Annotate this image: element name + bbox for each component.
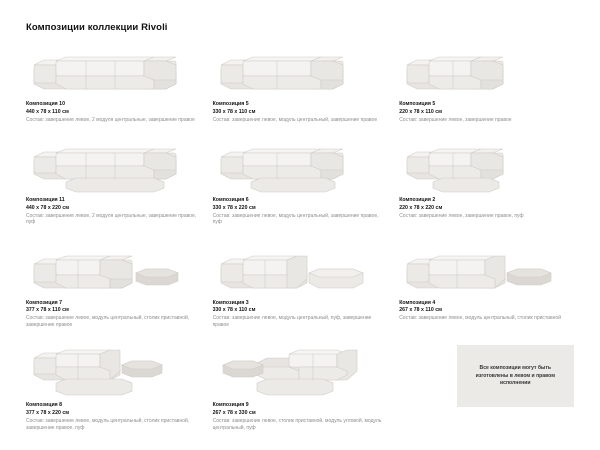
- composition-name: Композиция 2: [399, 197, 574, 203]
- grid-row: Композиция 10 440 х 78 х 110 см Состав: …: [26, 44, 574, 123]
- composition-desc: Состав: завершение левое, завершение пра…: [399, 213, 574, 220]
- composition-name: Композиция 5: [399, 101, 574, 107]
- composition-illustration-table2: [399, 243, 574, 299]
- grid-row: Композиция 7 377 х 78 х 110 см Состав: з…: [26, 243, 574, 329]
- composition-illustration-long4: [26, 44, 201, 100]
- composition-desc: Состав: завершение левое, столик пристав…: [213, 418, 388, 431]
- composition-name: Композиция 10: [26, 101, 201, 107]
- composition-illustration-long4puf: [26, 140, 201, 196]
- composition-illustration-straight3: [213, 44, 388, 100]
- composition-name: Композиция 6: [213, 197, 388, 203]
- composition-desc: Состав: завершение левое, модуль централ…: [213, 315, 388, 328]
- composition-illustration-table3: [26, 243, 201, 299]
- composition-card[interactable]: Композиция 6 330 х 78 х 220 см Состав: з…: [213, 140, 388, 226]
- composition-card[interactable]: Композиция 8 377 х 78 х 220 см Состав: з…: [26, 345, 201, 431]
- composition-name: Композиция 8: [26, 402, 201, 408]
- composition-card[interactable]: Композиция 9 267 х 78 х 330 см Состав: з…: [213, 345, 388, 431]
- composition-name: Композиция 4: [399, 300, 574, 306]
- composition-card[interactable]: Композиция 3 330 х 78 х 110 см Состав: з…: [213, 243, 388, 329]
- composition-illustration-corner-table: [26, 345, 201, 401]
- composition-dims: 220 х 78 х 110 см: [399, 109, 574, 115]
- composition-dims: 440 х 78 х 110 см: [26, 109, 201, 115]
- composition-dims: 377 х 78 х 110 см: [26, 307, 201, 313]
- composition-card[interactable]: Композиция 7 377 х 78 х 110 см Состав: з…: [26, 243, 201, 329]
- composition-illustration-corner-big: [213, 345, 388, 401]
- composition-dims: 220 х 78 х 220 см: [399, 205, 574, 211]
- composition-dims: 330 х 78 х 220 см: [213, 205, 388, 211]
- info-note-cell: Все композиции могут быть изготовлены в …: [399, 345, 574, 431]
- composition-dims: 267 х 78 х 110 см: [399, 307, 574, 313]
- composition-dims: 330 х 78 х 110 см: [213, 307, 388, 313]
- composition-desc: Состав: завершение левое, завершение пра…: [399, 117, 574, 124]
- grid-row: Композиция 8 377 х 78 х 220 см Состав: з…: [26, 345, 574, 431]
- composition-desc: Состав: завершение левое, модуль централ…: [26, 418, 201, 431]
- grid-row: Композиция 11 440 х 78 х 220 см Состав: …: [26, 140, 574, 226]
- composition-name: Композиция 3: [213, 300, 388, 306]
- composition-name: Композиция 7: [26, 300, 201, 306]
- composition-illustration-bench3: [213, 243, 388, 299]
- composition-card[interactable]: Композиция 5 220 х 78 х 110 см Состав: з…: [399, 44, 574, 123]
- composition-card[interactable]: Композиция 11 440 х 78 х 220 см Состав: …: [26, 140, 201, 226]
- composition-card[interactable]: Композиция 10 440 х 78 х 110 см Состав: …: [26, 44, 201, 123]
- composition-desc: Состав: завершение левое, модуль централ…: [213, 213, 388, 226]
- composition-name: Композиция 9: [213, 402, 388, 408]
- composition-desc: Состав: завершение левое, 2 модуля центр…: [26, 117, 201, 124]
- composition-illustration-straight3puf: [213, 140, 388, 196]
- composition-desc: Состав: завершение левое, модуль централ…: [213, 117, 388, 124]
- composition-card[interactable]: Композиция 2 220 х 78 х 220 см Состав: з…: [399, 140, 574, 226]
- composition-name: Композиция 5: [213, 101, 388, 107]
- composition-dims: 330 х 78 х 110 см: [213, 109, 388, 115]
- composition-grid: Композиция 10 440 х 78 х 110 см Состав: …: [26, 44, 574, 431]
- composition-card[interactable]: Композиция 5 330 х 78 х 110 см Состав: з…: [213, 44, 388, 123]
- composition-desc: Состав: завершение левое, модуль централ…: [399, 315, 574, 322]
- composition-name: Композиция 11: [26, 197, 201, 203]
- composition-illustration-straight2puf: [399, 140, 574, 196]
- composition-dims: 377 х 78 х 220 см: [26, 410, 201, 416]
- info-note: Все композиции могут быть изготовлены в …: [457, 345, 574, 407]
- composition-dims: 440 х 78 х 220 см: [26, 205, 201, 211]
- composition-desc: Состав: завершение левое, 2 модуля центр…: [26, 213, 201, 226]
- composition-dims: 267 х 78 х 330 см: [213, 410, 388, 416]
- catalog-page: Композиции коллекции Rivoli: [0, 0, 600, 450]
- page-title: Композиции коллекции Rivoli: [26, 22, 168, 33]
- composition-desc: Состав: завершение левое, модуль централ…: [26, 315, 201, 328]
- composition-illustration-straight2: [399, 44, 574, 100]
- composition-card[interactable]: Композиция 4 267 х 78 х 110 см Состав: з…: [399, 243, 574, 329]
